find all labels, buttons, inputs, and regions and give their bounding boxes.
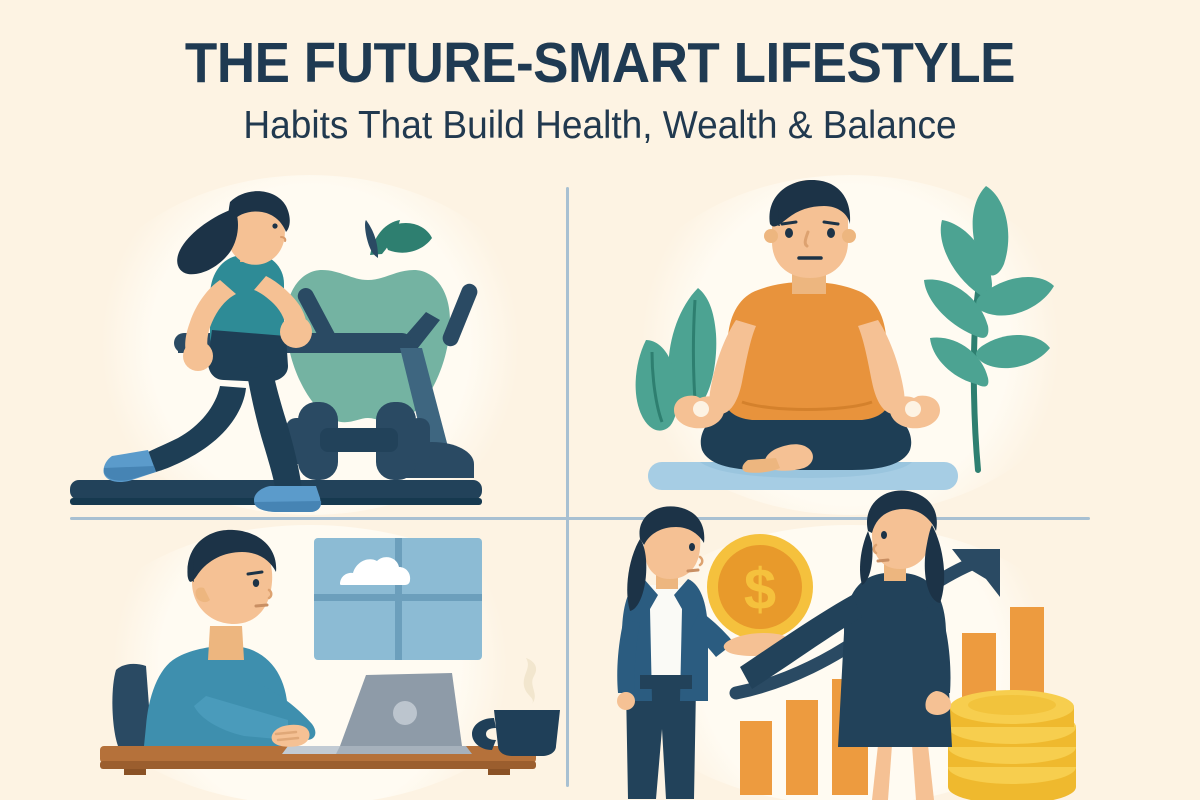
quadrant-work-productivity bbox=[100, 520, 570, 800]
coin-stack-icon bbox=[948, 690, 1076, 800]
gold-coin-icon: $ bbox=[707, 534, 813, 640]
man-at-laptop-icon bbox=[144, 530, 315, 747]
bar-2 bbox=[786, 700, 818, 795]
poster-canvas: THE FUTURE-SMART LIFESTYLE Habits That B… bbox=[0, 0, 1200, 800]
quadrant-wealth-growth: $ bbox=[600, 515, 1160, 800]
page-title: THE FUTURE-SMART LIFESTYLE bbox=[42, 0, 1158, 92]
bar-1 bbox=[740, 721, 772, 795]
laptop-icon bbox=[282, 673, 472, 754]
quadrant-mindfulness-balance bbox=[600, 180, 1140, 520]
coin-dollar-symbol: $ bbox=[744, 557, 776, 622]
plant-right-icon bbox=[924, 186, 1054, 470]
page-subtitle: Habits That Build Health, Wealth & Balan… bbox=[30, 92, 1170, 147]
coffee-mug-icon bbox=[472, 658, 560, 756]
poster-header: THE FUTURE-SMART LIFESTYLE Habits That B… bbox=[0, 0, 1200, 147]
quadrant-health-fitness bbox=[70, 180, 570, 520]
office-window-icon bbox=[314, 538, 482, 660]
